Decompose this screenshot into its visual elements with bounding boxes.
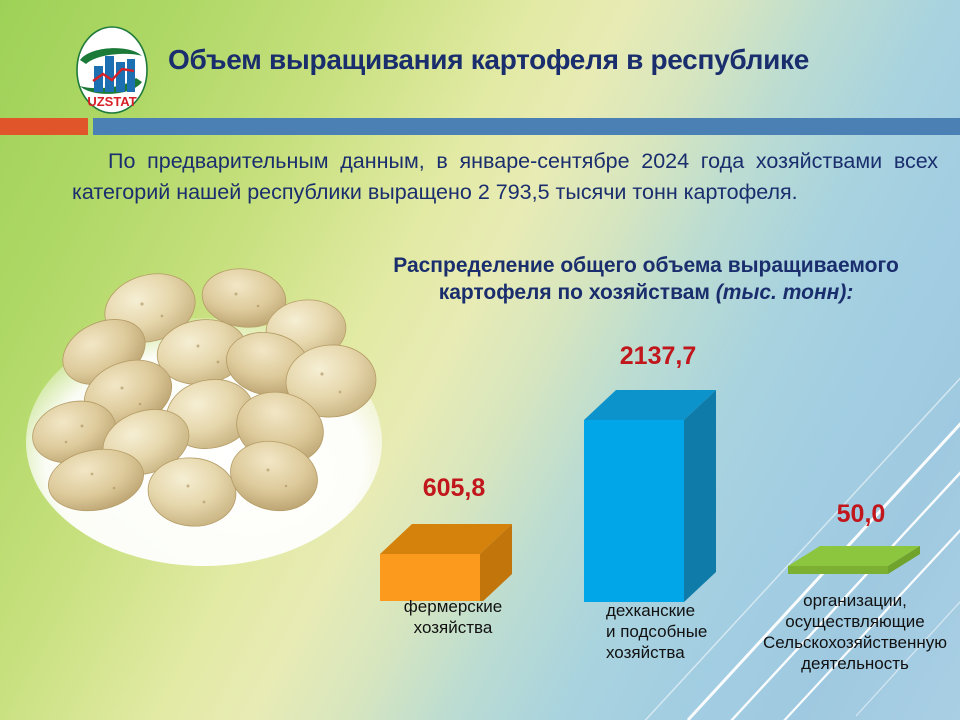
- page-title: Объем выращивания картофеля в республике: [168, 44, 928, 76]
- intro-paragraph: По предварительным данным, в январе-сент…: [72, 146, 938, 208]
- slide-canvas: UZSTAT Объем выращивания картофеля в рес…: [0, 0, 960, 720]
- divider-bar-orange: [0, 118, 88, 135]
- bar-3d-farms: [372, 506, 522, 601]
- uzstat-logo-icon: UZSTAT: [68, 26, 156, 114]
- divider-bar-blue: [93, 118, 960, 135]
- header-band: UZSTAT Объем выращивания картофеля в рес…: [0, 0, 960, 118]
- bar-value-label-household: 2137,7: [588, 342, 728, 371]
- bar-category-label-organizations: организации, осуществляющие Сельскохозяй…: [730, 590, 960, 674]
- bar-value-label-farms: 605,8: [394, 474, 514, 503]
- chart-title-line1: Распределение общего объема выращиваемог…: [393, 254, 899, 277]
- bar-category-label-farms: фермерские хозяйства: [388, 596, 518, 638]
- logo-wordmark: UZSTAT: [87, 94, 136, 109]
- bar-3d-organizations: [782, 532, 932, 588]
- chart-unit-label: (тыс. тонн):: [716, 281, 854, 304]
- chart-title-line2: картофеля по хозяйствам: [439, 281, 710, 304]
- paragraph-text: По предварительным данным, в январе-сент…: [72, 149, 938, 204]
- bar-3d-household: [578, 374, 738, 606]
- chart-title: Распределение общего объема выращиваемог…: [352, 252, 940, 306]
- bar-value-label-organizations: 50,0: [806, 500, 916, 529]
- potato-pile-image: [22, 246, 390, 586]
